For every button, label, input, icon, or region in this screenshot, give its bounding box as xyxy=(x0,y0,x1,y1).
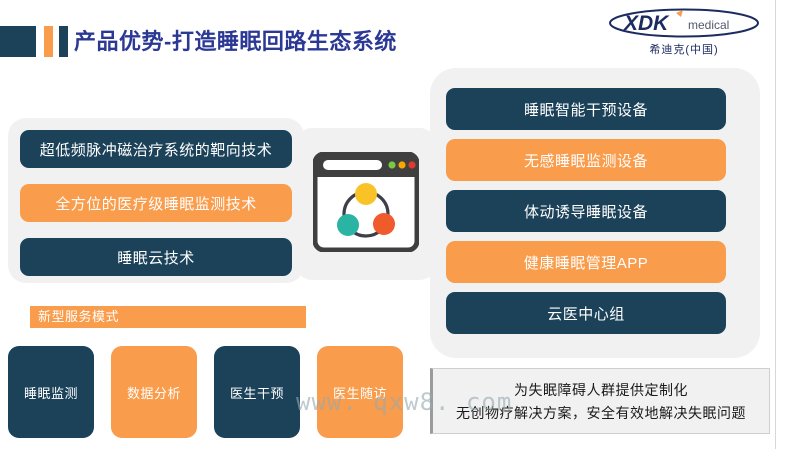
header-accent-bar-orange xyxy=(44,26,53,57)
left-tech-item-2[interactable]: 全方位的医疗级睡眠监测技术 xyxy=(20,184,292,222)
browser-window-network-icon xyxy=(313,152,419,252)
summary-statement-line-2: 无创物疗解决方案，安全有效地解决失眠问题 xyxy=(456,404,746,422)
summary-statement-box: 为失眠障碍人群提供定制化 无创物疗解决方案，安全有效地解决失眠问题 xyxy=(430,368,770,434)
slide-canvas: 产品优势-打造睡眠回路生态系统 XDK medical 希迪克(中国) 超低频脉… xyxy=(0,0,800,449)
service-card-doctor-followup[interactable]: 医生随访 xyxy=(317,346,403,438)
right-product-item-1[interactable]: 睡眠智能干预设备 xyxy=(446,88,726,130)
svg-text:medical: medical xyxy=(688,18,729,32)
right-product-item-2[interactable]: 无感睡眠监测设备 xyxy=(446,139,726,181)
summary-statement-line-1: 为失眠障碍人群提供定制化 xyxy=(514,381,688,399)
service-model-banner-label: 新型服务模式 xyxy=(38,309,119,325)
right-product-item-5[interactable]: 云医中心组 xyxy=(446,292,726,334)
service-card-data-analysis[interactable]: 数据分析 xyxy=(111,346,197,438)
left-tech-item-3[interactable]: 睡眠云技术 xyxy=(20,238,292,276)
xdk-medical-logo-icon: XDK medical xyxy=(608,6,760,40)
right-product-item-3[interactable]: 体动诱导睡眠设备 xyxy=(446,190,726,232)
header-accent-block xyxy=(0,26,36,57)
logo-mark: XDK medical xyxy=(604,6,764,40)
svg-text:XDK: XDK xyxy=(623,12,670,35)
logo-company-name: 希迪克(中国) xyxy=(604,41,764,57)
brand-logo: XDK medical 希迪克(中国) xyxy=(604,6,764,62)
page-title: 产品优势-打造睡眠回路生态系统 xyxy=(74,28,397,56)
right-product-item-4[interactable]: 健康睡眠管理APP xyxy=(446,241,726,283)
service-card-doctor-intervention[interactable]: 医生干预 xyxy=(214,346,300,438)
page-right-rule xyxy=(775,0,776,449)
header-accent-bar-dark xyxy=(59,26,68,57)
service-card-sleep-monitoring[interactable]: 睡眠监测 xyxy=(8,346,94,438)
left-tech-item-1[interactable]: 超低频脉冲磁治疗系统的靶向技术 xyxy=(20,130,292,168)
